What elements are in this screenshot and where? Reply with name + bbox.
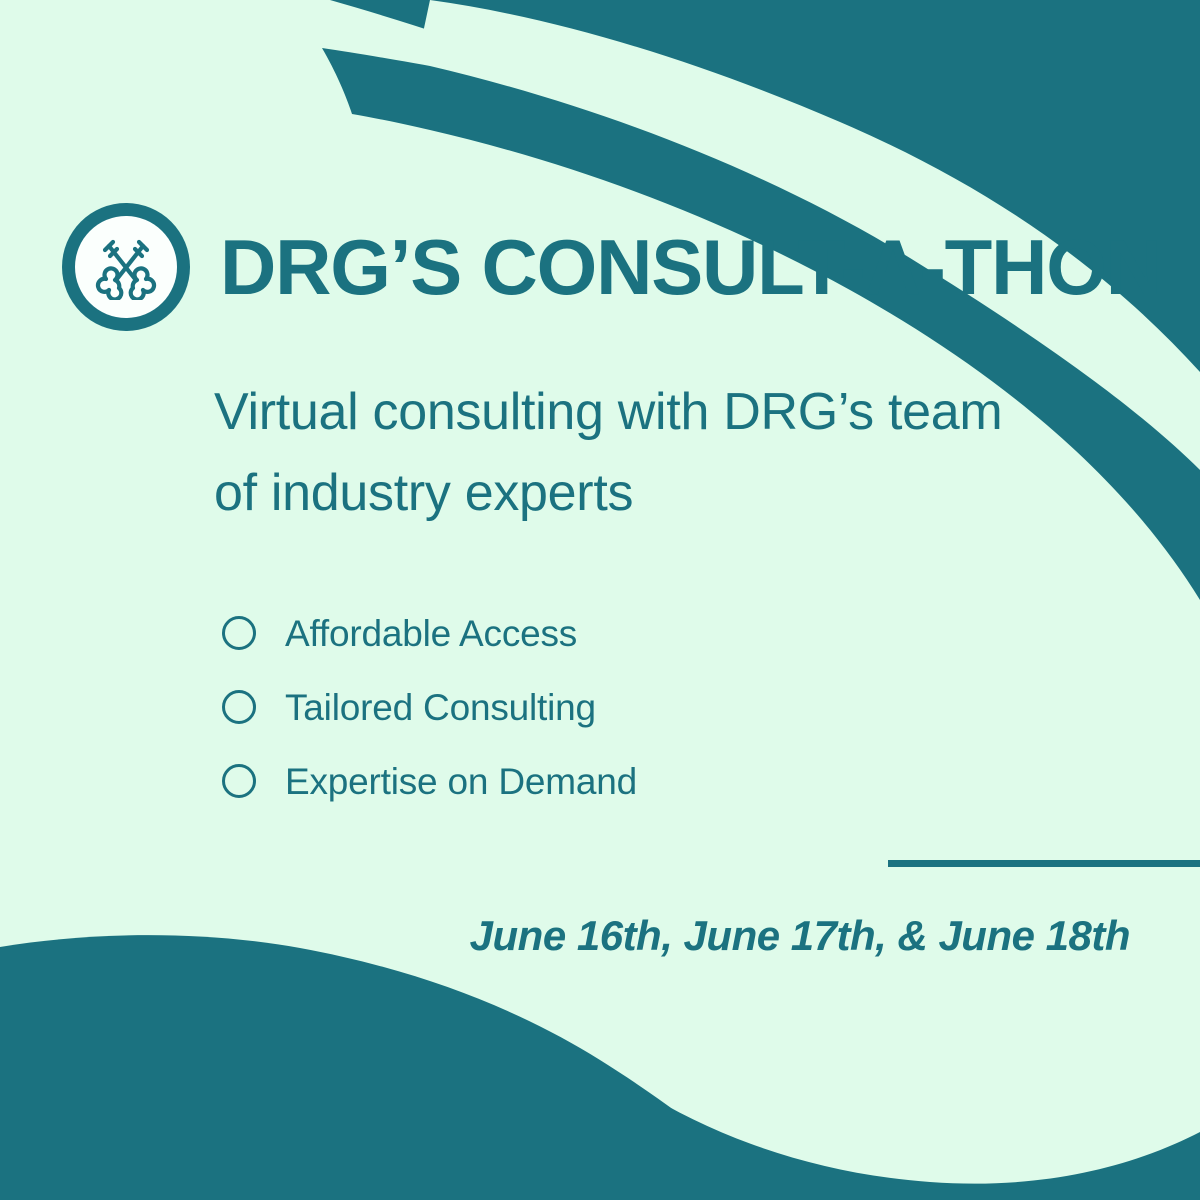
header: DRG’S CONSULT-A-THON [62, 203, 1161, 331]
event-dates: June 16th, June 17th, & June 18th [470, 915, 1130, 957]
feature-label: Tailored Consulting [256, 689, 596, 726]
page-title: DRG’S CONSULT-A-THON [190, 228, 1161, 306]
logo-badge [62, 203, 190, 331]
list-item: Affordable Access [222, 596, 637, 670]
subtitle: Virtual consulting with DRG’s team of in… [214, 372, 1044, 533]
list-item: Expertise on Demand [222, 744, 637, 818]
poster-canvas: DRG’S CONSULT-A-THON Virtual consulting … [0, 0, 1200, 1200]
circle-outline-icon [222, 690, 256, 724]
feature-label: Affordable Access [256, 615, 577, 652]
logo-inner-circle [75, 216, 177, 318]
circle-outline-icon [222, 764, 256, 798]
feature-list: Affordable Access Tailored Consulting Ex… [222, 596, 637, 818]
feature-label: Expertise on Demand [256, 763, 637, 800]
divider-rule [888, 860, 1200, 867]
list-item: Tailored Consulting [222, 670, 637, 744]
poster-content: DRG’S CONSULT-A-THON Virtual consulting … [0, 0, 1200, 1200]
crossed-keys-icon [93, 234, 159, 300]
circle-outline-icon [222, 616, 256, 650]
